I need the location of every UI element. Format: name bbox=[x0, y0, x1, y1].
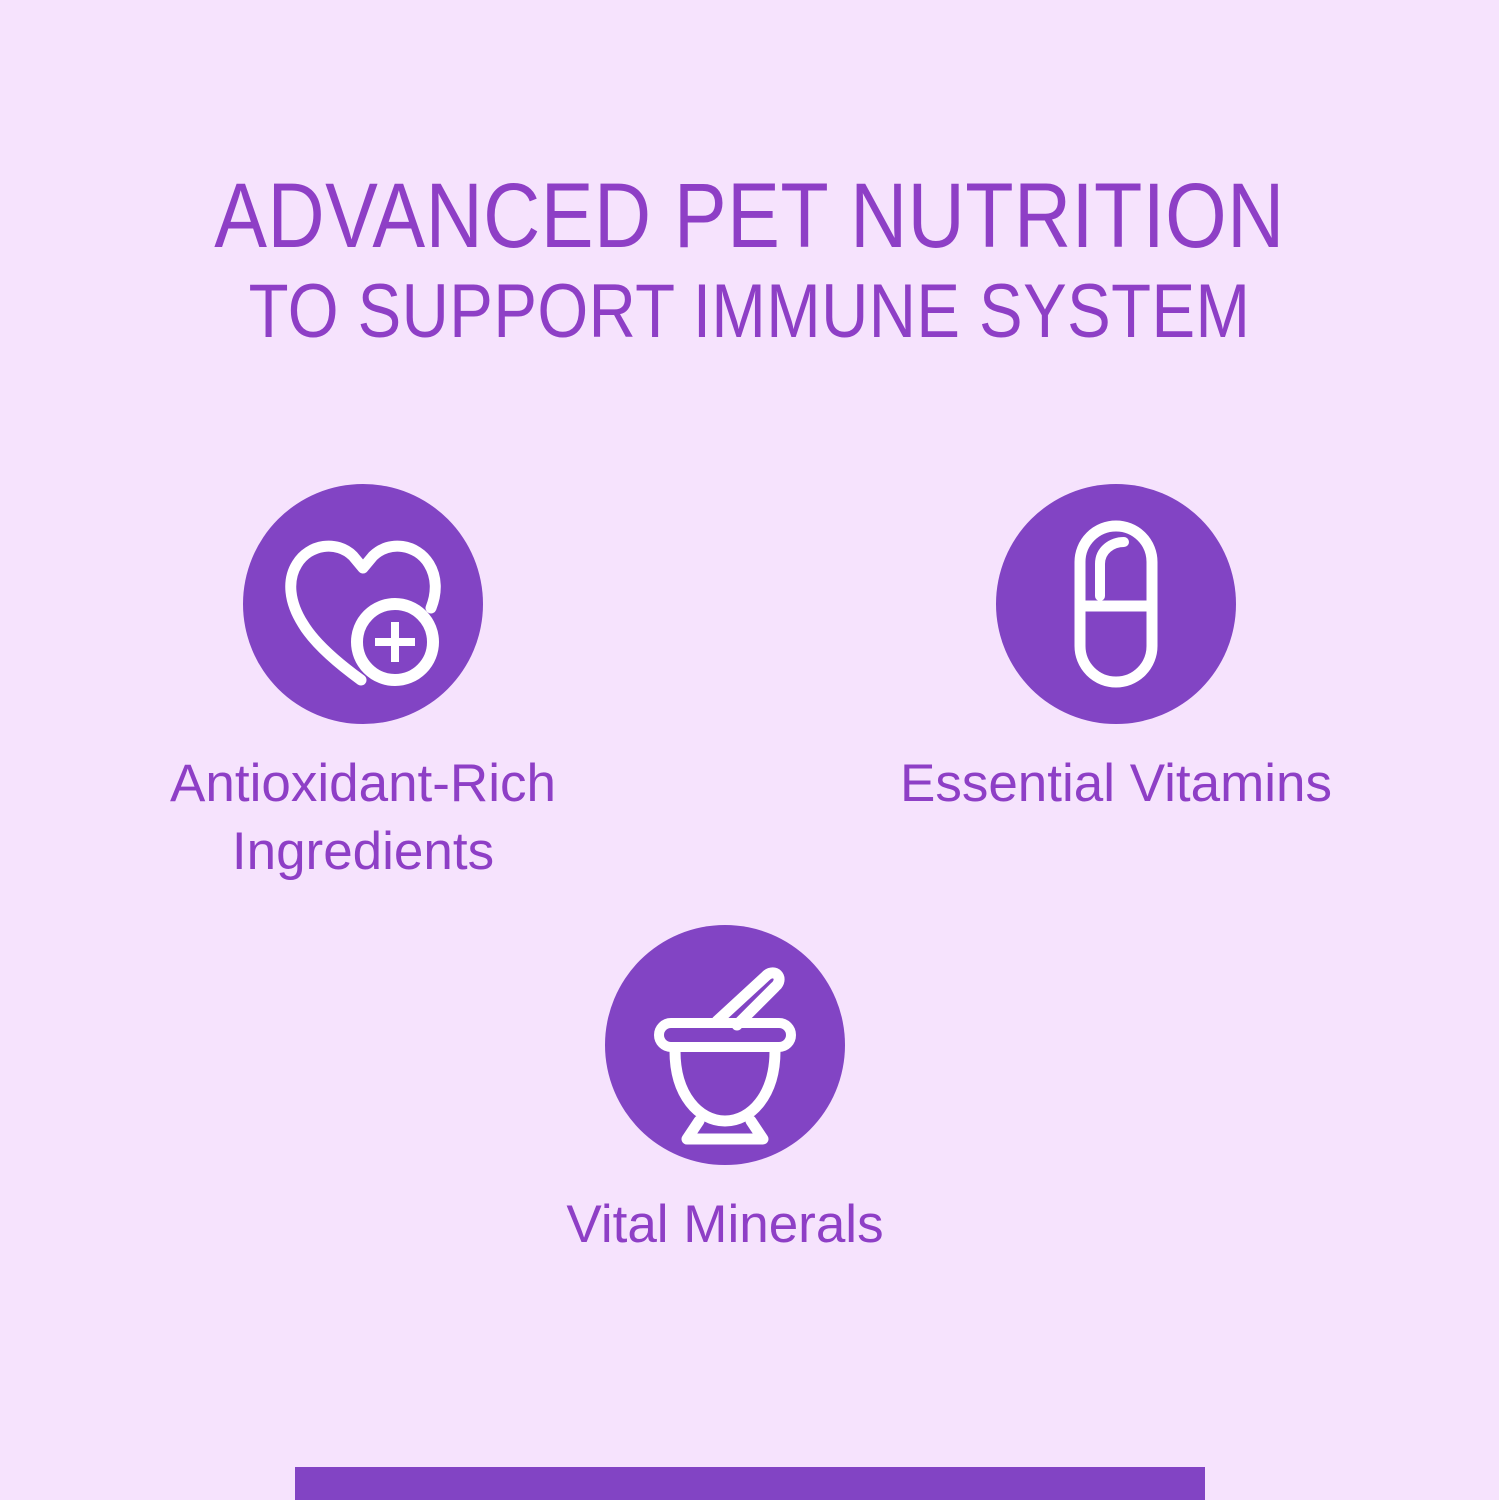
feature-icon-circle bbox=[243, 484, 483, 724]
feature-icon-circle bbox=[605, 925, 845, 1165]
feature-antioxidant-ingredients: Antioxidant-Rich Ingredients bbox=[63, 484, 663, 886]
headline-line-1: ADVANCED PET NUTRITION bbox=[105, 168, 1394, 264]
feature-label-antioxidant: Antioxidant-Rich Ingredients bbox=[63, 750, 663, 886]
heart-plus-icon bbox=[243, 484, 483, 724]
feature-label-minerals: Vital Minerals bbox=[425, 1191, 1025, 1259]
feature-label-vitamins: Essential Vitamins bbox=[836, 750, 1396, 818]
feature-essential-vitamins: Essential Vitamins bbox=[836, 484, 1396, 818]
mortar-pestle-icon bbox=[605, 925, 845, 1165]
feature-icon-circle bbox=[996, 484, 1236, 724]
headline-line-2: TO SUPPORT IMMUNE SYSTEM bbox=[105, 270, 1394, 354]
promo-graphic: ADVANCED PET NUTRITION TO SUPPORT IMMUNE… bbox=[0, 0, 1499, 1500]
feature-vital-minerals: Vital Minerals bbox=[425, 925, 1025, 1259]
capsule-pill-icon bbox=[996, 484, 1236, 724]
headline-block: ADVANCED PET NUTRITION TO SUPPORT IMMUNE… bbox=[0, 168, 1499, 354]
bottom-accent-bar bbox=[295, 1467, 1205, 1500]
